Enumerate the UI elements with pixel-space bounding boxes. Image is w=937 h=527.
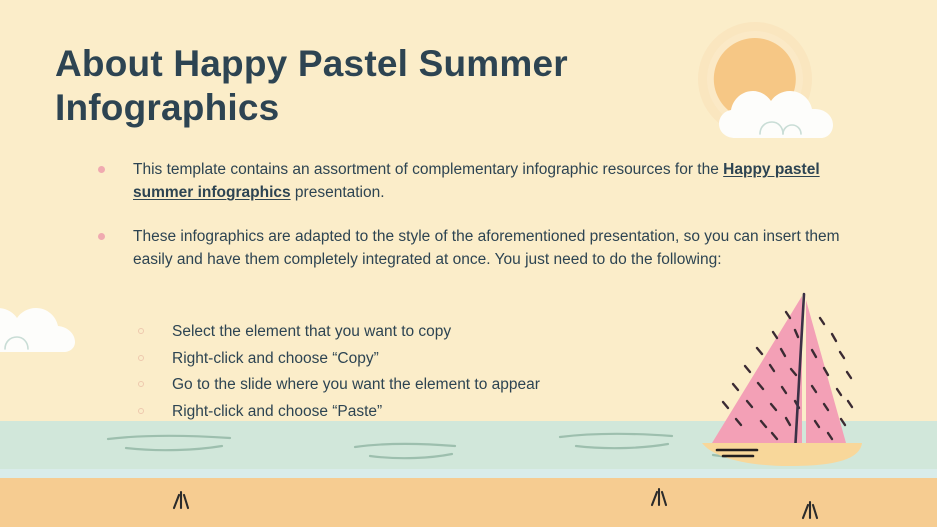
cloud-icon <box>719 91 833 138</box>
slide-canvas: About Happy Pastel Summer Infographics T… <box>0 0 937 527</box>
water-band-highlight <box>0 469 937 478</box>
list-item: Go to the slide where you want the eleme… <box>131 373 751 396</box>
sand-band <box>0 478 937 527</box>
bullet-text-after: presentation. <box>291 184 385 201</box>
sub-bullet-group: Select the element that you want to copy… <box>131 310 751 426</box>
list-item: Right-click and choose “Copy” <box>131 347 751 370</box>
sub-bullet-label: Right-click and choose “Copy” <box>172 350 379 367</box>
list-item: These infographics are adapted to the st… <box>93 225 863 271</box>
page-title: About Happy Pastel Summer Infographics <box>55 42 655 130</box>
bullet-text-before: This template contains an assortment of … <box>133 161 723 178</box>
sub-bullet-label: Go to the slide where you want the eleme… <box>172 376 540 393</box>
list-item: This template contains an assortment of … <box>93 158 863 204</box>
list-item: Right-click and choose “Paste” <box>131 400 751 423</box>
sub-bullet-label: Right-click and choose “Paste” <box>172 403 382 420</box>
water-band <box>0 421 937 473</box>
cloud-icon <box>0 308 75 352</box>
body-content: This template contains an assortment of … <box>93 158 863 292</box>
sub-bullet-list: Select the element that you want to copy… <box>131 320 751 423</box>
bullet-text-before: These infographics are adapted to the st… <box>133 228 840 268</box>
list-item: Select the element that you want to copy <box>131 320 751 343</box>
sun-icon <box>698 22 812 136</box>
sub-bullet-label: Select the element that you want to copy <box>172 323 451 340</box>
bullet-list: This template contains an assortment of … <box>93 158 863 271</box>
